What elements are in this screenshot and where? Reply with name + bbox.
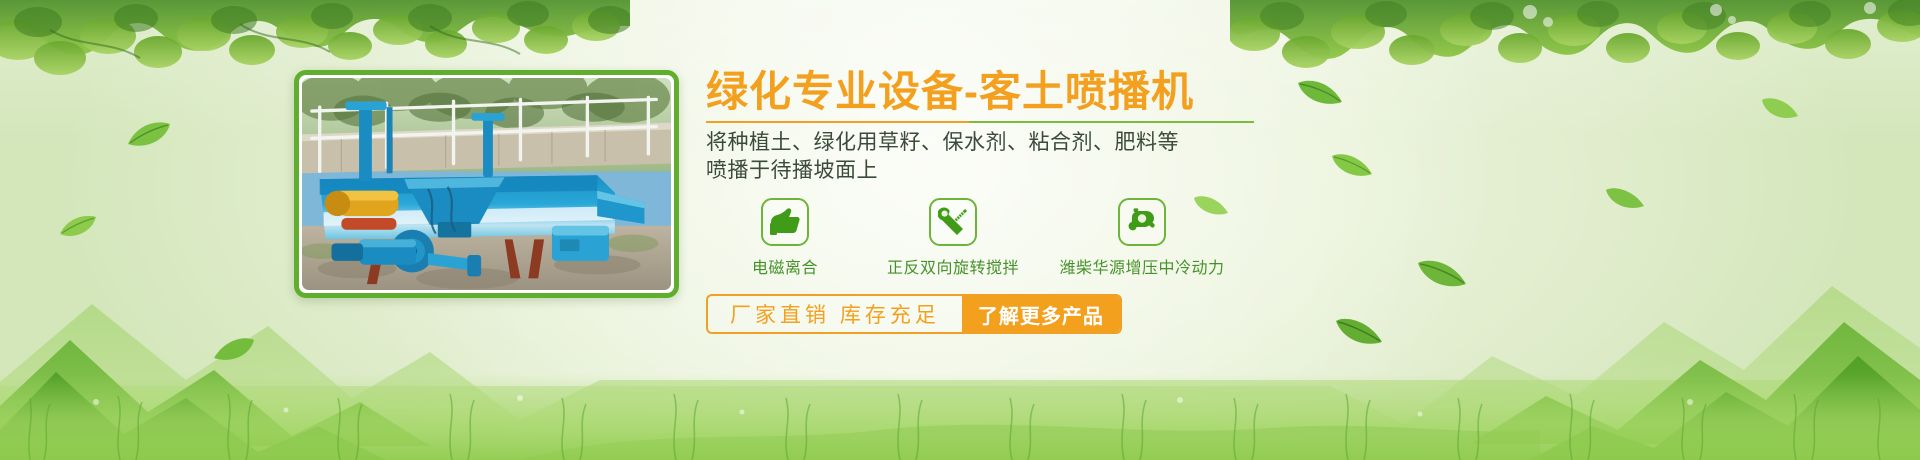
wrench-screwdriver-icon <box>929 198 977 246</box>
promo-banner: 绿化专业设备-客土喷播机 将种植土、绿化用草籽、保水剂、粘合剂、肥料等 喷播于待… <box>0 0 1920 460</box>
feature-list: 电磁离合 <box>706 198 1326 278</box>
learn-more-button[interactable]: 了解更多产品 <box>962 296 1120 332</box>
floating-leaf-icon <box>1760 96 1800 122</box>
feature-item-electromagnetic-clutch[interactable]: 电磁离合 <box>706 198 864 278</box>
grass-strip-icon <box>0 340 1920 460</box>
product-photo <box>302 78 671 290</box>
banner-content: 绿化专业设备-客土喷播机 将种植土、绿化用草籽、保水剂、粘合剂、肥料等 喷播于待… <box>706 68 1326 334</box>
feature-label: 潍柴华源增压中冷动力 <box>1042 254 1242 278</box>
wrench-screwdriver-glyph <box>938 207 968 237</box>
floating-leaf-icon <box>126 120 172 150</box>
feature-item-weichai-engine[interactable]: 潍柴华源增压中冷动力 <box>1042 198 1242 278</box>
thumbs-up-icon <box>761 198 809 246</box>
feature-item-bidirectional-mixing[interactable]: 正反双向旋转搅拌 <box>864 198 1042 278</box>
thumbs-up-glyph <box>770 208 800 236</box>
engine-gear-icon <box>1118 198 1166 246</box>
cta-bar[interactable]: 厂家直销 库存充足 了解更多产品 <box>706 294 1122 334</box>
cta-slogan: 厂家直销 库存充足 <box>708 296 962 332</box>
floating-leaf-icon <box>1604 186 1646 212</box>
title-divider <box>706 121 1254 123</box>
engine-gear-glyph <box>1127 208 1157 236</box>
feature-label: 电磁离合 <box>706 254 864 278</box>
subtitle-line-1: 将种植土、绿化用草籽、保水剂、粘合剂、肥料等 <box>706 129 1326 157</box>
floating-leaf-icon <box>1330 152 1374 180</box>
page-title: 绿化专业设备-客土喷播机 <box>706 68 1326 115</box>
feature-label: 正反双向旋转搅拌 <box>864 254 1042 278</box>
foliage-canopy-right-icon <box>1230 0 1920 150</box>
product-photo-frame[interactable] <box>294 70 679 298</box>
subtitle-line-2: 喷播于待播坡面上 <box>706 157 1326 185</box>
hydroseeder-machine-image <box>302 78 671 290</box>
